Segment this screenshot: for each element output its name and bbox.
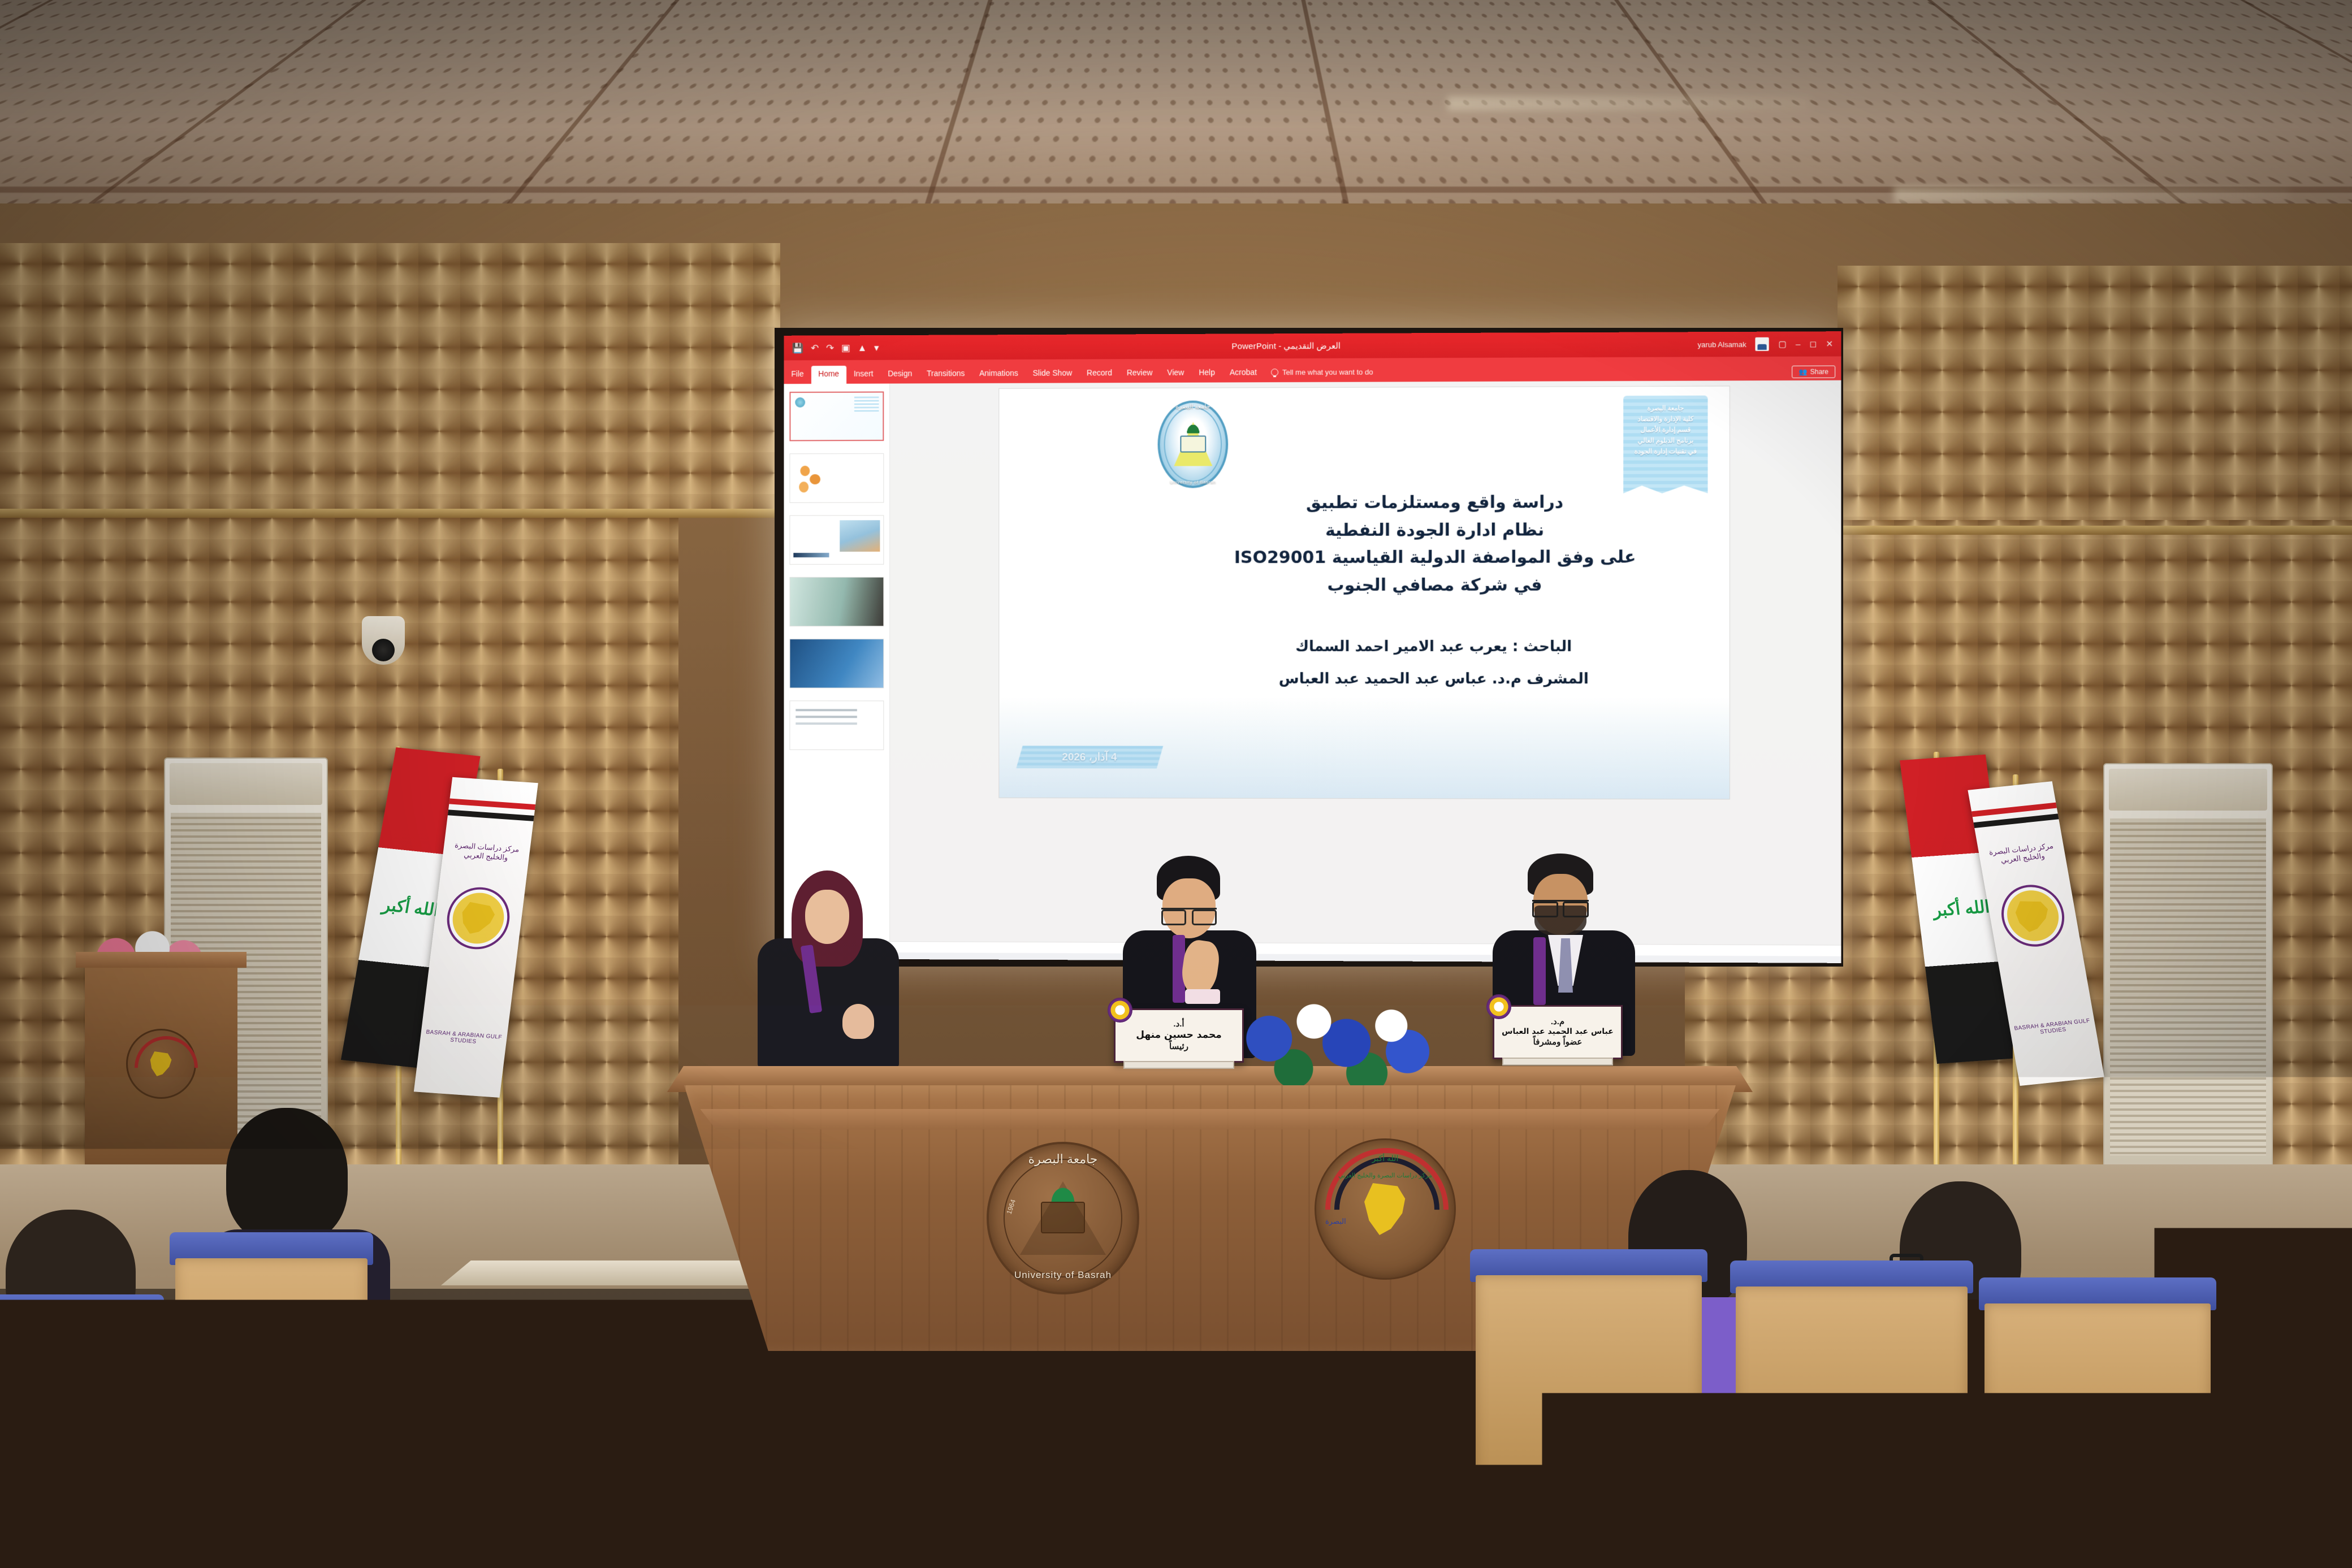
ac-vent-grille <box>2110 818 2266 1155</box>
redo-icon[interactable]: ↷ <box>826 343 834 353</box>
emblem-center-name: مركز دراسات البصرة والخليج العربي <box>1316 1172 1454 1179</box>
minimize-button[interactable]: – <box>1796 340 1800 348</box>
nameplate-name: إيمان فاضل إسماعيل <box>760 1027 862 1039</box>
affiliation-line: قسم إدارة الأعمال <box>1628 425 1703 436</box>
seat-back <box>0 1320 158 1566</box>
powerpoint-body: جامعة البصرة University of Basrah جامعة … <box>784 380 1841 945</box>
eyeglasses <box>1161 908 1217 920</box>
ribbon-tab-bar[interactable]: File Home Insert Design Transitions Anim… <box>784 356 1841 384</box>
tell-me-search[interactable]: Tell me what you want to do <box>1264 368 1380 383</box>
ac-top-panel <box>170 763 322 805</box>
emblem-takbir-text: الله أكبر <box>1316 1154 1454 1163</box>
shirt-cuff <box>1185 989 1220 1004</box>
nameplate-role: عضواً <box>802 1039 821 1050</box>
podium <box>85 961 237 1176</box>
projection-screen: 💾 ↶ ↷ ▣ ▲ ▾ العرض التقديمي - PowerPoint … <box>775 328 1843 967</box>
seat-back <box>1984 1303 2211 1568</box>
emblem-arabic-text: جامعة البصرة <box>989 1152 1137 1167</box>
slide-bottom-wash <box>999 696 1730 799</box>
slide-credits: الباحث : يعرب عبد الامير احمد السماك الم… <box>1179 631 1689 696</box>
save-icon[interactable]: 💾 <box>792 343 803 353</box>
seat-back <box>1476 1275 1702 1568</box>
nameplate: م.د. إيمان فاضل إسماعيل عضواً <box>746 1006 876 1060</box>
slide-thumbnail[interactable] <box>789 639 884 688</box>
tab-insert[interactable]: Insert <box>846 369 880 384</box>
auditorium-photo: 💾 ↶ ↷ ▣ ▲ ▾ العرض التقديمي - PowerPoint … <box>0 0 2352 1568</box>
purple-sash <box>1533 937 1546 1005</box>
powerpoint-window[interactable]: 💾 ↶ ↷ ▣ ▲ ▾ العرض التقديمي - PowerPoint … <box>784 331 1841 963</box>
eyeglasses <box>1532 900 1589 912</box>
podium-emblem <box>126 1029 196 1099</box>
tab-acrobat[interactable]: Acrobat <box>1222 367 1264 382</box>
present-icon[interactable]: ▣ <box>841 343 850 353</box>
logo-book-icon <box>1180 436 1206 453</box>
account-name[interactable]: yarub Alsamak <box>1698 340 1746 348</box>
share-icon: 👥 <box>1798 368 1807 376</box>
avatar[interactable] <box>1756 337 1769 351</box>
emblem-english-text: University of Basrah <box>989 1270 1137 1281</box>
affiliation-line: جامعة البصرة <box>1628 404 1703 414</box>
title-line: في شركة مصافي الجنوب <box>1191 571 1679 599</box>
nameplate-rank: م.د. <box>1551 1017 1564 1027</box>
title-line: على وفق المواصفة الدولية القياسية ISO290… <box>1191 544 1679 572</box>
tab-home[interactable]: Home <box>811 366 846 384</box>
flag-arabic-text: مركز دراسات البصرة والخليج العربي <box>1978 841 2066 867</box>
document-title: العرض التقديمي - PowerPoint <box>879 339 1698 353</box>
flower-arrangement <box>1233 989 1436 1097</box>
flag-black-bar <box>448 809 534 821</box>
title-bar-right: yarub Alsamak ▢ – ◻ ✕ <box>1698 337 1834 351</box>
tab-view[interactable]: View <box>1160 368 1191 383</box>
head <box>226 1108 348 1244</box>
nameplate-role: عضواً ومشرفاً <box>1533 1037 1583 1047</box>
seat-armrest <box>344 1317 392 1430</box>
lightbulb-icon <box>1271 369 1278 376</box>
emblem-city-label: البصرة <box>1325 1217 1346 1226</box>
nameplate-role: رئيساً <box>1169 1042 1188 1052</box>
auditorium-seat <box>1730 1261 1973 1568</box>
university-of-basrah-logo: جامعة البصرة University of Basrah <box>1158 400 1229 488</box>
quick-access-toolbar[interactable]: 💾 ↶ ↷ ▣ ▲ ▾ <box>792 343 879 353</box>
nameplate-name: عباس عبد الحميد عبد العباس <box>1502 1027 1614 1037</box>
tab-record[interactable]: Record <box>1079 368 1119 383</box>
table-apron <box>690 1109 1730 1129</box>
ribbon-display-options-icon[interactable]: ▢ <box>1778 340 1786 348</box>
slide-thumbnail[interactable] <box>789 453 884 503</box>
customize-qat-icon[interactable]: ▾ <box>874 343 879 353</box>
flag-english-text: BASRAH & ARABIAN GULF STUDIES <box>2009 1017 2096 1038</box>
nameplate: م.د. عباس عبد الحميد عبد العباس عضواً وم… <box>1493 1005 1623 1059</box>
flag-red-bar <box>449 798 535 810</box>
nameplate-name: محمد حسين منهل <box>1136 1029 1221 1041</box>
tab-help[interactable]: Help <box>1191 368 1222 383</box>
ceiling-light-strip <box>1894 187 2290 203</box>
powerpoint-title-bar: 💾 ↶ ↷ ▣ ▲ ▾ العرض التقديمي - PowerPoint … <box>784 331 1841 360</box>
wall-panel-upper-right <box>1837 266 2352 520</box>
tab-file[interactable]: File <box>784 369 811 384</box>
auditorium-seat <box>170 1232 373 1568</box>
title-line: نظام ادارة الجودة النفطية <box>1191 516 1679 544</box>
university-seal-icon <box>1486 994 1511 1019</box>
tab-transitions[interactable]: Transitions <box>919 369 972 383</box>
slide-canvas[interactable]: جامعة البصرة University of Basrah جامعة … <box>890 380 1841 945</box>
air-conditioner-right <box>2103 763 2273 1170</box>
security-camera <box>362 616 405 665</box>
slide-thumbnail[interactable] <box>789 700 884 750</box>
logo-palm-icon <box>1186 423 1200 434</box>
basrah-gulf-studies-table-emblem: الله أكبر مركز دراسات البصرة والخليج الع… <box>1315 1138 1456 1280</box>
emblem-book-icon <box>1041 1202 1085 1233</box>
wall-trim <box>1832 526 2352 535</box>
tab-slide-show[interactable]: Slide Show <box>1026 368 1079 383</box>
researcher-line: الباحث : يعرب عبد الامير احمد السماك <box>1179 631 1689 663</box>
podium-top <box>76 952 247 968</box>
ceiling-light-strip <box>1447 96 1809 111</box>
emblem-palm-icon <box>1050 1186 1076 1203</box>
auditorium-seat <box>0 1294 164 1566</box>
seat-back <box>1736 1287 1968 1568</box>
flag-arabic-text: مركز دراسات البصرة والخليج العربي <box>443 840 531 864</box>
wall-trim <box>0 509 786 518</box>
affiliation-line: برنامج الدبلوم العالي <box>1628 436 1703 447</box>
university-seal-icon <box>1108 998 1132 1023</box>
nameplate-rank: م.د. <box>805 1017 818 1027</box>
university-seal-icon <box>740 995 765 1020</box>
auditorium-seat <box>1470 1249 1707 1568</box>
affiliation-line: في تقنيات إدارة الجودة <box>1628 447 1703 457</box>
flag-english-text: BASRAH & ARABIAN GULF STUDIES <box>420 1029 507 1047</box>
flag-black-bar <box>1974 813 2059 828</box>
nameplate-stand <box>1123 1061 1234 1069</box>
slide-thumbnail-panel[interactable] <box>784 384 890 942</box>
tab-review[interactable]: Review <box>1119 368 1160 383</box>
seat-back <box>175 1258 367 1568</box>
logo-english-text: University of Basrah <box>1158 479 1229 484</box>
nameplate-stand <box>756 1059 867 1067</box>
slide-title: دراسة واقع ومستلزمات تطبيق نظام ادارة ال… <box>1191 489 1679 600</box>
maximize-button[interactable]: ◻ <box>1810 340 1817 348</box>
current-slide[interactable]: جامعة البصرة University of Basrah جامعة … <box>999 386 1730 799</box>
share-button[interactable]: 👥 Share <box>1792 366 1835 378</box>
slide-thumbnail[interactable] <box>789 392 884 441</box>
undo-icon[interactable]: ↶ <box>811 343 819 353</box>
auditorium-seat <box>1979 1277 2216 1568</box>
tell-me-label: Tell me what you want to do <box>1282 368 1373 377</box>
slide-thumbnail[interactable] <box>789 515 884 565</box>
title-line: دراسة واقع ومستلزمات تطبيق <box>1191 489 1679 517</box>
start-slideshow-icon[interactable]: ▲ <box>858 343 867 353</box>
nameplate: أ.د. محمد حسين منهل رئيساً <box>1114 1008 1244 1063</box>
affiliation-line: كلية الإدارة والاقتصاد <box>1628 414 1703 425</box>
tab-animations[interactable]: Animations <box>972 369 1025 383</box>
slide-thumbnail[interactable] <box>789 577 884 627</box>
wall-panel-upper-left <box>0 243 780 509</box>
supervisor-line: المشرف م.د. عباس عبد الحميد عبد العباس <box>1179 663 1689 696</box>
share-label: Share <box>1810 368 1828 376</box>
nameplate-stand <box>1502 1058 1613 1065</box>
ac-top-panel <box>2109 769 2267 811</box>
nameplate-rank: أ.د. <box>1173 1019 1184 1029</box>
tab-design[interactable]: Design <box>880 369 919 384</box>
slide-affiliation-box: جامعة البصرة كلية الإدارة والاقتصاد قسم … <box>1623 396 1707 493</box>
face <box>805 890 849 944</box>
close-button[interactable]: ✕ <box>1826 340 1833 348</box>
logo-arabic-text: جامعة البصرة <box>1158 402 1229 410</box>
university-of-basrah-table-emblem: جامعة البصرة 1964 University of Basrah <box>987 1142 1139 1294</box>
